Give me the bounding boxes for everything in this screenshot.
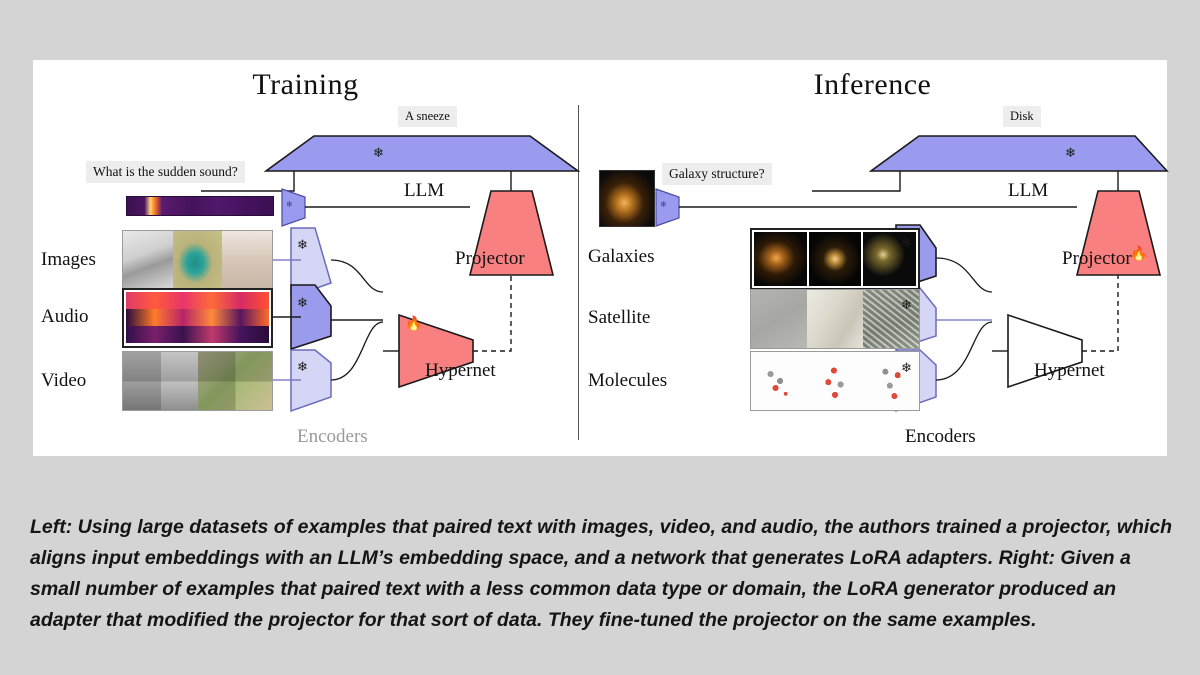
training-prompt-bubble: What is the sudden sound? [86,161,245,183]
thumbnail-satellite [807,290,863,348]
training-thumbnails-images [122,230,273,290]
inference-prompt-thumbnail [599,170,655,227]
training-modality-label-video: Video [41,370,86,392]
training-hypernet-label: Hypernet [425,360,496,382]
figure-caption: Left: Using large datasets of examples t… [30,512,1175,636]
thumbnail-molecule [863,352,919,410]
inference-text-encoder-shape [656,189,679,226]
training-modality-label-images: Images [41,249,96,271]
inference-panel: Inference [578,60,1167,456]
inference-modality-label-galaxies: Galaxies [588,246,654,268]
spectrogram-band [126,309,269,326]
training-projector-label: Projector [455,248,525,270]
thumbnail-galaxy [809,232,862,286]
thumbnail-galaxy [863,232,916,286]
inference-thumbnails-molecules [750,351,920,411]
inference-thumbnails-satellite [750,289,920,349]
thumbnail-image [123,231,173,289]
training-modality-label-audio: Audio [41,306,89,328]
thumbnail-video-frames [123,352,198,410]
inference-modality-label-satellite: Satellite [588,307,650,329]
inference-llm-shape [871,136,1167,171]
thumbnail-image [173,231,223,289]
inference-modality-label-molecules: Molecules [588,370,667,392]
thumbnail-molecule [751,352,807,410]
training-thumbnails-audio [122,288,273,348]
training-llm-label: LLM [404,180,444,202]
thumbnail-satellite [751,290,807,348]
inference-llm-output-bubble: Disk [1003,106,1041,127]
training-thumbnails-video [122,351,273,411]
training-llm-shape [266,136,578,171]
spectrogram-band [126,326,269,343]
spectrogram-band [126,292,269,309]
inference-encoders-label: Encoders [905,426,976,448]
training-panel: Training [33,60,578,456]
training-encoders-label: Encoders [297,426,368,448]
figure-card: Training [33,60,1167,456]
thumbnail-satellite [863,290,919,348]
thumbnail-galaxy [754,232,807,286]
thumbnail-molecule [807,352,863,410]
inference-llm-label: LLM [1008,180,1048,202]
thumbnail-video-frames [198,352,273,410]
inference-hypernet-label: Hypernet [1034,360,1105,382]
inference-prompt-bubble: Galaxy structure? [662,163,772,185]
thumbnail-image [222,231,272,289]
training-prompt-spectrogram [126,196,274,216]
training-llm-output-bubble: A sneeze [398,106,457,127]
inference-thumbnails-galaxies [750,228,920,290]
inference-projector-label: Projector [1062,248,1132,270]
training-text-encoder-shape [282,189,305,226]
